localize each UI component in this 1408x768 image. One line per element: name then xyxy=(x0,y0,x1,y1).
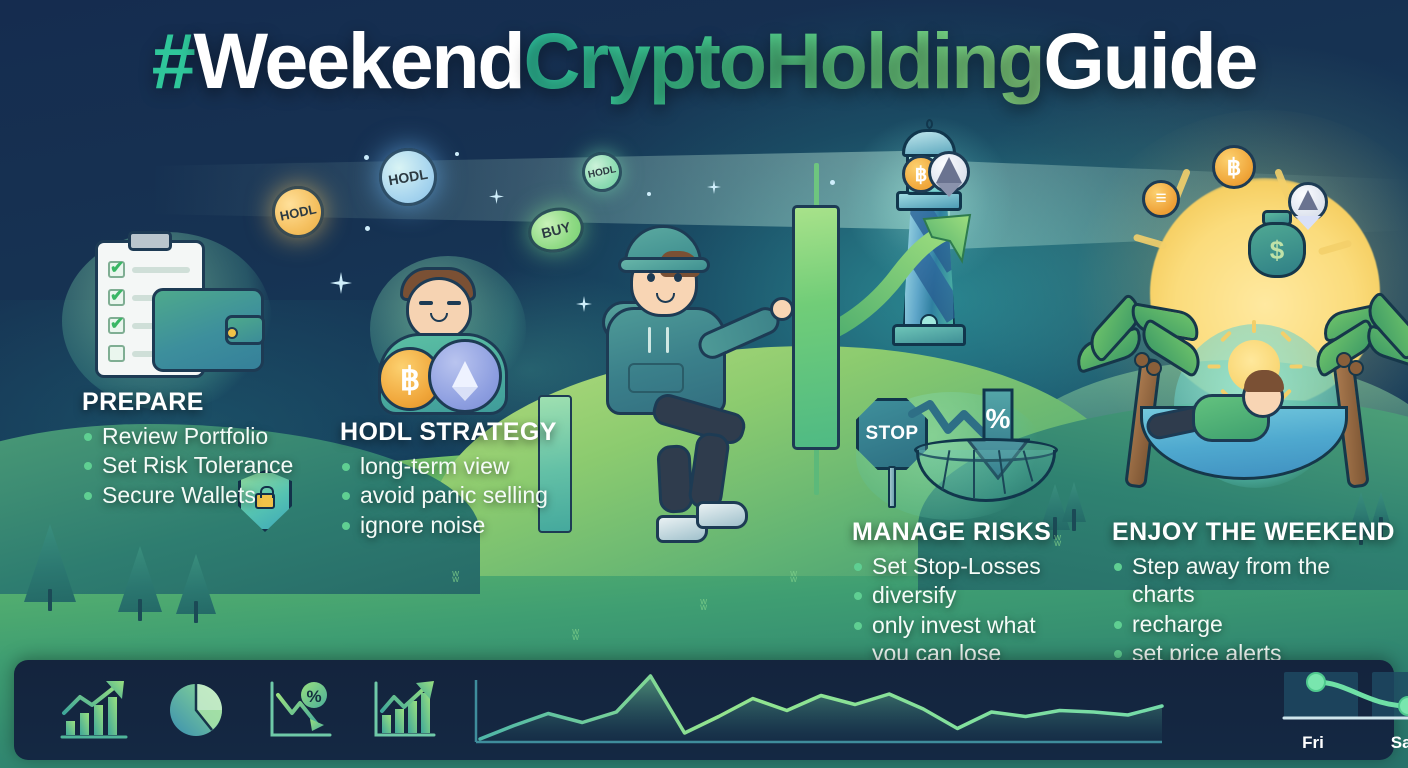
day-label-sat: Sat xyxy=(1359,733,1408,753)
bottom-toolbar: % xyxy=(14,660,1394,760)
weekend-day-labels: Fri Sat Mon xyxy=(1268,733,1408,753)
green-candlestick xyxy=(792,205,840,450)
section-hodl-heading: HODL STRATEGY xyxy=(340,418,557,447)
hodl-character: ฿ xyxy=(372,255,522,415)
page-title: #WeekendCryptoHoldingGuide xyxy=(0,20,1408,103)
coconut xyxy=(1146,360,1162,376)
section-risks-heading: MANAGE RISKS xyxy=(852,518,1067,547)
bitcoin-symbol: ฿ xyxy=(400,360,420,398)
section-hodl-list: long-term view avoid panic selling ignor… xyxy=(340,452,557,539)
grass-tuft: ʬ xyxy=(452,569,459,586)
lighthouse-knob xyxy=(926,119,933,129)
section-prepare-heading: PREPARE xyxy=(82,388,293,417)
list-item: Set Stop-Losses xyxy=(852,552,1067,580)
candle-wick-top xyxy=(814,163,819,209)
pie-chart-icon[interactable] xyxy=(166,679,232,741)
infographic-canvas: #WeekendCryptoHoldingGuide ฿ HODL HODL H… xyxy=(0,0,1408,768)
section-enjoy-heading: ENJOY THE WEEKEND xyxy=(1112,518,1402,547)
generic-token-coin: ≡ xyxy=(1142,180,1180,218)
day-label-fri: Fri xyxy=(1268,733,1358,753)
growth-bar-chart-icon[interactable] xyxy=(60,679,132,741)
tree-icon xyxy=(24,524,76,602)
market-sparkline-chart xyxy=(472,670,1242,750)
market-volatility-sparkline[interactable] xyxy=(472,670,1242,750)
section-risks-list: Set Stop-Losses diversify only invest wh… xyxy=(852,552,1067,667)
risk-icon-group: STOP % xyxy=(856,392,1066,512)
star-dot xyxy=(364,155,369,160)
star-dot xyxy=(365,226,370,231)
grass-tuft: ʬ xyxy=(572,627,579,644)
star-dot xyxy=(830,180,835,185)
star-dot xyxy=(455,152,459,156)
coconut xyxy=(1348,360,1364,376)
clipboard-clip xyxy=(128,231,172,251)
section-enjoy-list: Step away from the charts recharge set p… xyxy=(1112,552,1380,667)
list-item: diversify xyxy=(852,581,1067,609)
hero-hand xyxy=(770,297,794,321)
ethereum-coin-icon xyxy=(428,339,502,413)
stop-sign-pole xyxy=(888,466,896,508)
list-item: Step away from the charts xyxy=(1112,552,1380,609)
weekend-trend-minichart: Fri Sat Mon xyxy=(1268,668,1408,753)
hero-shoe-front xyxy=(696,501,748,529)
section-enjoy-weekend: ENJOY THE WEEKEND Step away from the cha… xyxy=(1112,518,1402,668)
svg-text:%: % xyxy=(986,403,1011,434)
list-item: Secure Wallets xyxy=(82,481,293,509)
character-head xyxy=(406,277,472,341)
hero-leg-front xyxy=(687,431,731,511)
grass-tuft: ʬ xyxy=(790,569,797,586)
section-prepare-list: Review Portfolio Set Risk Tolerance Secu… xyxy=(82,422,293,509)
list-item: only invest what you can lose xyxy=(852,611,1067,668)
tree-icon xyxy=(118,546,162,612)
title-part-1: Weekend xyxy=(193,16,523,105)
star-dot xyxy=(647,192,651,196)
hero-leg-back xyxy=(656,444,694,514)
section-prepare: PREPARE Review Portfolio Set Risk Tolera… xyxy=(82,388,293,510)
title-part-3: Guide xyxy=(1043,16,1256,105)
bottom-icon-group: % xyxy=(14,679,442,741)
grass-tuft: ʬ xyxy=(700,597,707,614)
hero-pocket xyxy=(628,363,684,393)
list-item: Set Risk Tolerance xyxy=(82,451,293,479)
svg-text:%: % xyxy=(306,687,321,706)
title-hash: # xyxy=(152,16,194,105)
section-manage-risks: MANAGE RISKS Set Stop-Losses diversify o… xyxy=(852,518,1067,668)
safety-net-icon xyxy=(916,450,1056,502)
bitcoin-coin-sunrise: ฿ xyxy=(1212,145,1256,189)
tree-icon xyxy=(176,554,216,614)
declining-percent-chart-icon[interactable]: % xyxy=(266,679,336,741)
ethereum-coin-sunrise xyxy=(1288,182,1328,222)
list-item: ignore noise xyxy=(340,511,557,539)
list-item: recharge xyxy=(1112,610,1380,638)
list-item: avoid panic selling xyxy=(340,481,557,509)
weekend-trend-svg[interactable] xyxy=(1268,668,1408,726)
list-item: long-term view xyxy=(340,452,557,480)
title-part-2: CryptoHolding xyxy=(523,16,1043,105)
wallet-icon xyxy=(152,288,264,372)
growth-bar-chart-icon-2[interactable] xyxy=(370,679,442,741)
beanie-brim xyxy=(618,257,710,273)
lighthouse-ethereum-icon xyxy=(928,151,970,193)
list-item: Review Portfolio xyxy=(82,422,293,450)
candle-wick-bottom xyxy=(814,447,819,495)
relax-scene xyxy=(1096,300,1408,515)
wallet-button xyxy=(226,327,238,339)
section-hodl: HODL STRATEGY long-term view avoid panic… xyxy=(340,418,557,540)
money-bag-icon: $ xyxy=(1248,222,1306,278)
